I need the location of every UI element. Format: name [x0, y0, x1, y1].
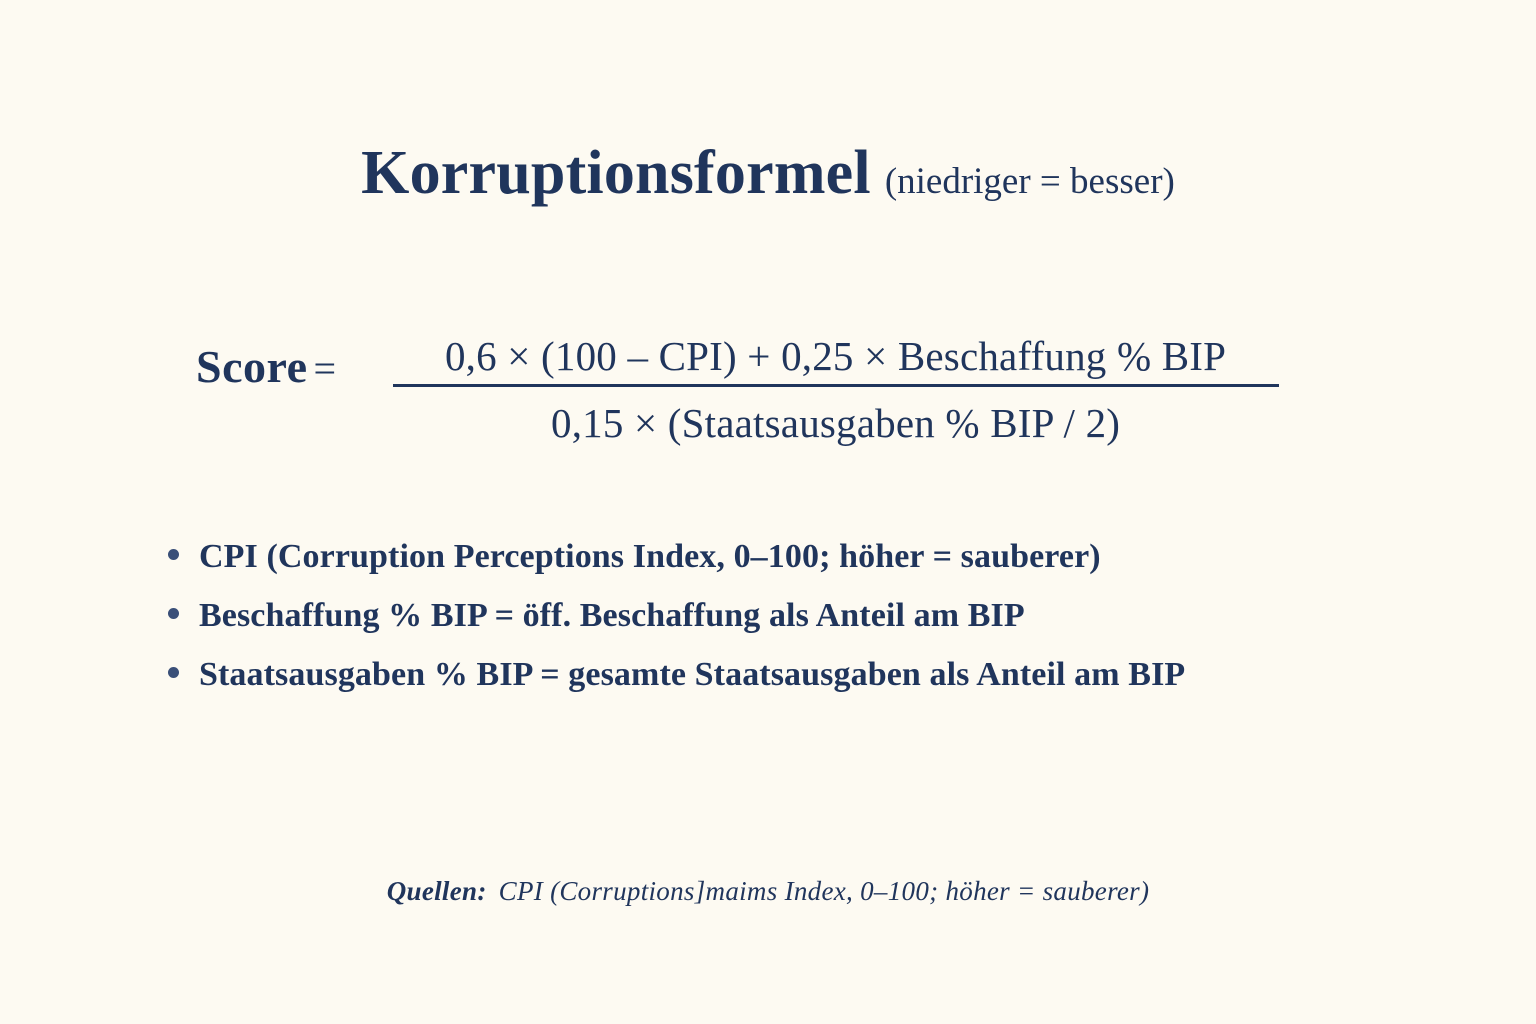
bullet-dot-icon	[168, 549, 179, 560]
list-item: CPI (Corruption Perceptions Index, 0–100…	[168, 538, 1418, 576]
list-item: Beschaffung % BIP = öff. Beschaffung als…	[168, 597, 1418, 635]
slide-title-row: Korruptionsformel(niedriger = besser)	[0, 138, 1536, 209]
sources-text: CPI (Corruptions]maims Index, 0–100; höh…	[499, 876, 1150, 906]
list-item-label: Staatsausgaben % BIP = gesamte Staatsaus…	[199, 656, 1185, 694]
sources-footer: Quellen:CPI (Corruptions]maims Index, 0–…	[0, 876, 1536, 907]
bullet-dot-icon	[168, 608, 179, 619]
list-item-label: Beschaffung % BIP = öff. Beschaffung als…	[199, 597, 1025, 635]
list-item: Staatsausgaben % BIP = gesamte Staatsaus…	[168, 656, 1418, 694]
formula-numerator: 0,6 × (100 – CPI) + 0,25 × Beschaffung %…	[441, 332, 1230, 384]
definitions-list: CPI (Corruption Perceptions Index, 0–100…	[168, 538, 1418, 715]
formula-fraction: 0,6 × (100 – CPI) + 0,25 × Beschaffung %…	[393, 332, 1279, 447]
score-label: Score=	[196, 332, 337, 390]
page-subtitle: (niedriger = besser)	[885, 161, 1175, 202]
list-item-label: CPI (Corruption Perceptions Index, 0–100…	[199, 538, 1101, 576]
score-label-text: Score	[196, 341, 308, 392]
formula-denominator: 0,15 × (Staatsausgaben % BIP / 2)	[551, 387, 1120, 447]
slide-canvas: Korruptionsformel(niedriger = besser) Sc…	[0, 0, 1536, 1024]
bullet-dot-icon	[168, 667, 179, 678]
page-title: Korruptionsformel	[361, 139, 871, 207]
sources-label: Quellen:	[387, 876, 487, 906]
equals-sign: =	[314, 346, 337, 391]
score-formula: Score= 0,6 × (100 – CPI) + 0,25 × Bescha…	[196, 332, 1396, 447]
